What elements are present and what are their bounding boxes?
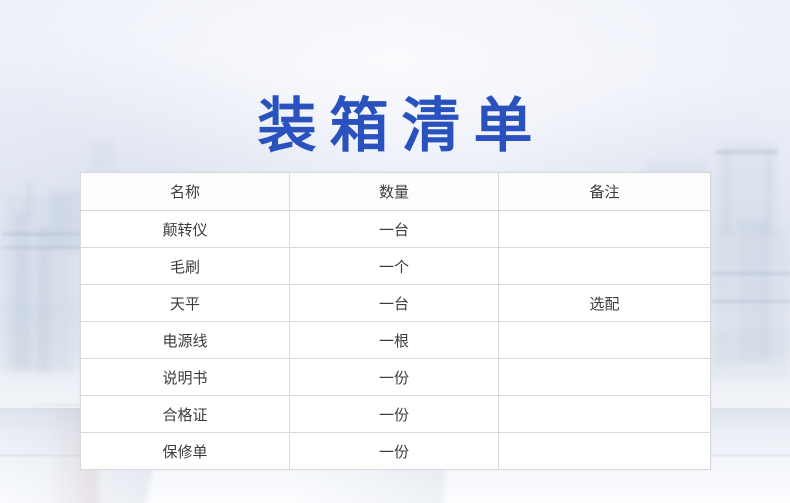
background-structure — [738, 220, 768, 362]
background-structure — [700, 330, 790, 378]
background-structure — [38, 226, 50, 372]
cell-item-note — [499, 396, 711, 433]
cell-item-quantity: 一份 — [290, 433, 499, 470]
cell-item-quantity: 一份 — [290, 396, 499, 433]
cell-item-quantity: 一台 — [290, 285, 499, 322]
cell-item-quantity: 一份 — [290, 359, 499, 396]
background-structure — [712, 272, 790, 275]
table-header-row: 名称 数量 备注 — [81, 173, 711, 211]
table-row: 保修单 一份 — [81, 433, 711, 470]
packing-list-page: 装箱清单 名称 数量 备注 颠转仪 一台 — [0, 0, 790, 503]
cell-item-note — [499, 211, 711, 248]
background-structure — [712, 300, 790, 303]
background-structure — [2, 232, 88, 236]
cell-item-quantity: 一台 — [290, 211, 499, 248]
cell-item-quantity: 一根 — [290, 322, 499, 359]
cell-item-name: 电源线 — [81, 322, 290, 359]
column-header-quantity: 数量 — [290, 173, 499, 211]
packing-list-table: 名称 数量 备注 颠转仪 一台 毛刷 一个 天平 一台 — [80, 172, 711, 470]
cell-item-name: 保修单 — [81, 433, 290, 470]
cell-item-note — [499, 322, 711, 359]
table-row: 天平 一台 选配 — [81, 285, 711, 322]
table-row: 颠转仪 一台 — [81, 211, 711, 248]
background-structure — [762, 228, 786, 360]
background-structure — [2, 246, 88, 249]
background-structure — [716, 226, 736, 364]
page-title: 装箱清单 — [244, 92, 545, 160]
cell-item-note: 选配 — [499, 285, 711, 322]
cell-item-name: 说明书 — [81, 359, 290, 396]
cell-item-name: 毛刷 — [81, 248, 290, 285]
packing-list-table-container: 名称 数量 备注 颠转仪 一台 毛刷 一个 天平 一台 — [80, 172, 710, 470]
background-structure — [14, 212, 30, 370]
column-header-note: 备注 — [499, 173, 711, 211]
table-row: 合格证 一份 — [81, 396, 711, 433]
cell-item-quantity: 一个 — [290, 248, 499, 285]
background-structure — [6, 196, 70, 372]
table-row: 说明书 一份 — [81, 359, 711, 396]
cell-item-note — [499, 433, 711, 470]
table-header: 名称 数量 备注 — [81, 173, 711, 211]
cell-item-name: 天平 — [81, 285, 290, 322]
cell-item-name: 颠转仪 — [81, 211, 290, 248]
cell-item-note — [499, 248, 711, 285]
cell-item-name: 合格证 — [81, 396, 290, 433]
background-structure — [0, 300, 92, 370]
table-body: 颠转仪 一台 毛刷 一个 天平 一台 选配 电源线 一根 — [81, 211, 711, 470]
cell-item-note — [499, 359, 711, 396]
table-row: 毛刷 一个 — [81, 248, 711, 285]
column-header-name: 名称 — [81, 173, 290, 211]
table-row: 电源线 一根 — [81, 322, 711, 359]
